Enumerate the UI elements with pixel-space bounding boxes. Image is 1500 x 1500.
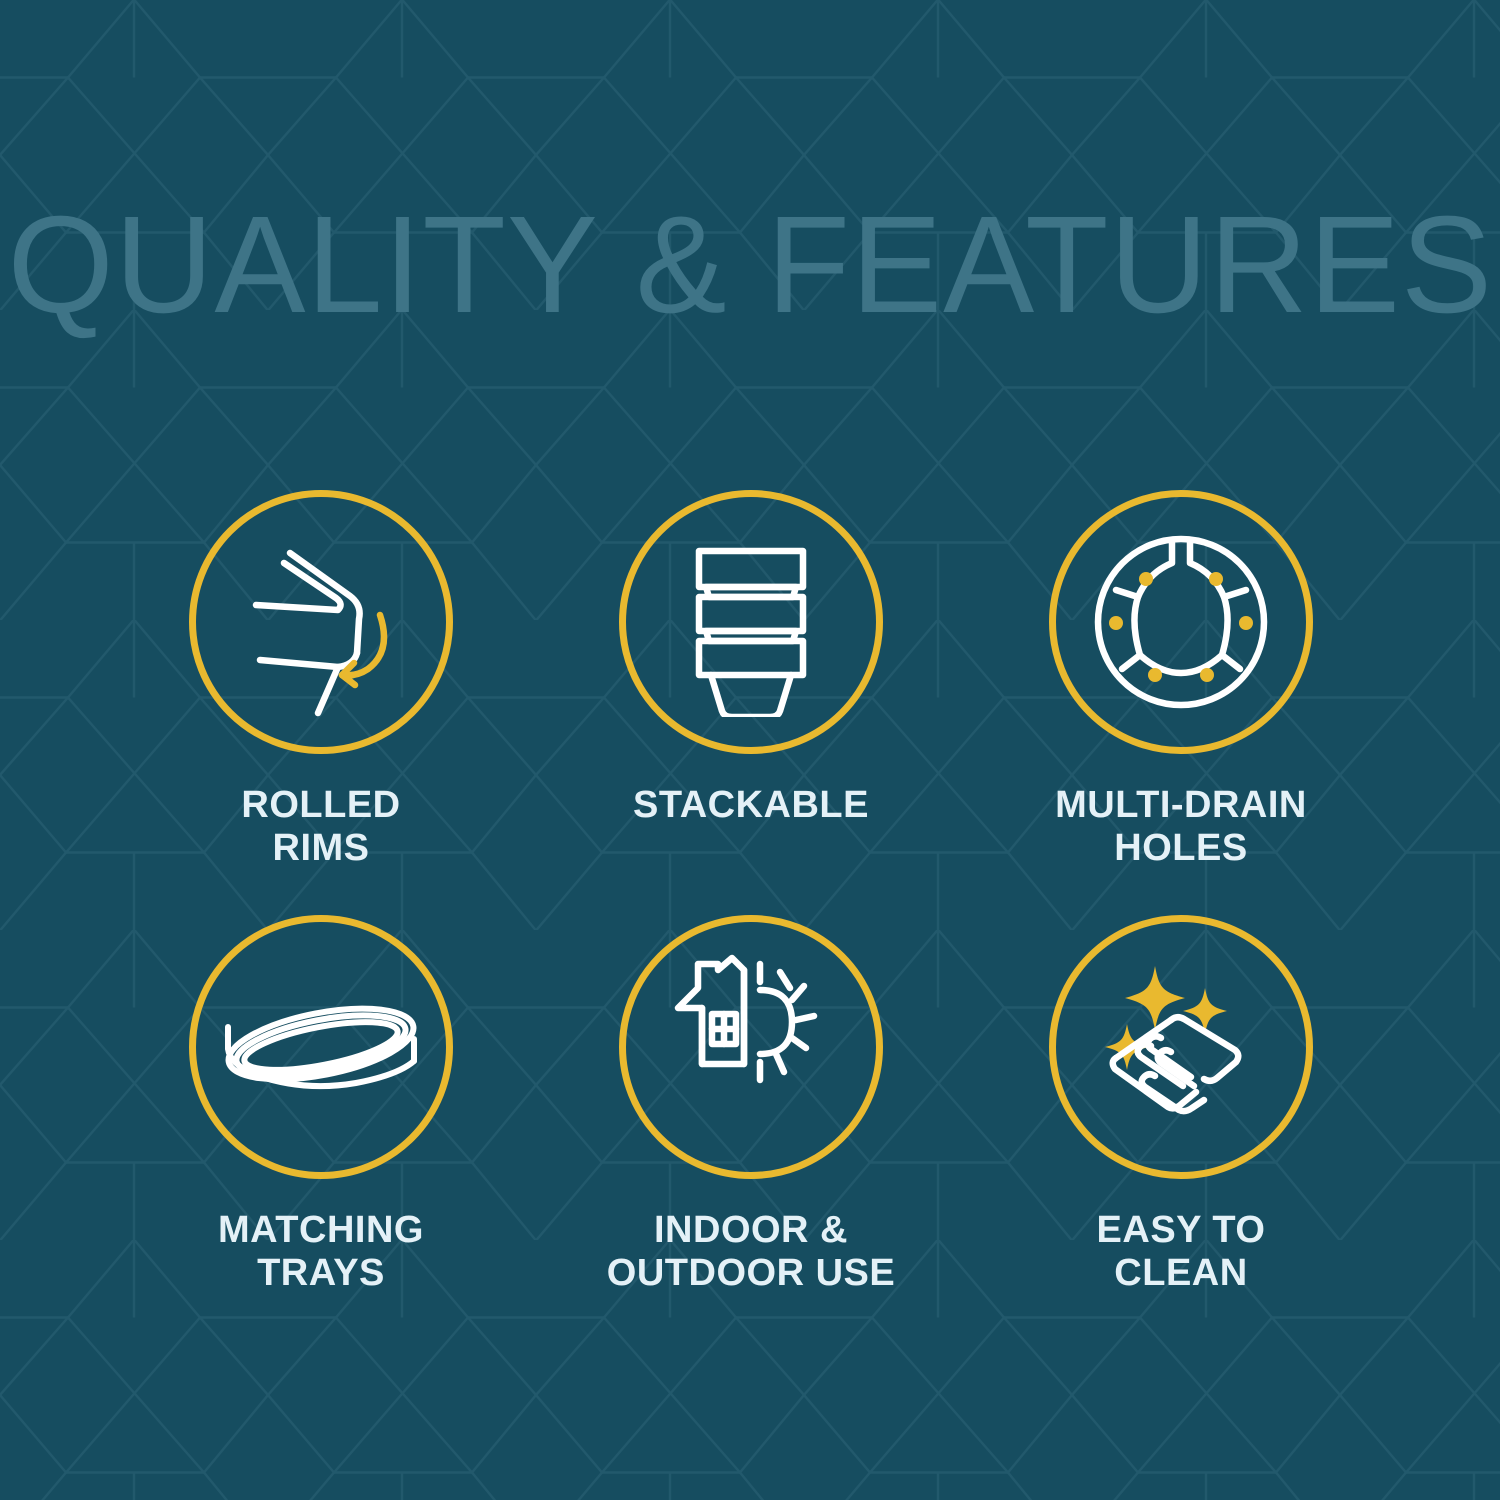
feature-easy-to-clean[interactable]: EASY TO CLEAN — [966, 915, 1396, 1340]
feature-rolled-rims[interactable]: ROLLED RIMS — [106, 490, 536, 915]
badge-ring-stackable — [619, 490, 883, 754]
feature-label-easy-to-clean: EASY TO CLEAN — [1097, 1209, 1266, 1294]
badge-ring-rolled-rims — [189, 490, 453, 754]
feature-multi-drain-holes[interactable]: MULTI-DRAIN HOLES — [966, 490, 1396, 915]
stacked-pots-icon — [656, 527, 846, 717]
feature-grid: ROLLED RIMS — [106, 490, 1396, 1340]
badge-ring-indoor-outdoor-use — [619, 915, 883, 1179]
feature-indoor-outdoor-use[interactable]: INDOOR & OUTDOOR USE — [536, 915, 966, 1340]
feature-label-matching-trays: MATCHING TRAYS — [218, 1209, 424, 1294]
feature-infographic: QUALITY & FEATURES — [0, 0, 1500, 1500]
feature-label-multi-drain-holes: MULTI-DRAIN HOLES — [1055, 784, 1307, 869]
page-title-container: QUALITY & FEATURES — [0, 196, 1500, 334]
badge-ring-matching-trays — [189, 915, 453, 1179]
badge-ring-multi-drain-holes — [1049, 490, 1313, 754]
page-title: QUALITY & FEATURES — [8, 196, 1494, 334]
feature-label-rolled-rims: ROLLED RIMS — [241, 784, 400, 869]
feature-label-stackable: STACKABLE — [633, 784, 869, 827]
drain-holes-icon — [1086, 527, 1276, 717]
feature-matching-trays[interactable]: MATCHING TRAYS — [106, 915, 536, 1340]
feature-stackable[interactable]: STACKABLE — [536, 490, 966, 915]
wiping-hand-sparkle-icon — [1083, 952, 1279, 1142]
rolled-rim-icon — [226, 527, 416, 717]
badge-ring-easy-to-clean — [1049, 915, 1313, 1179]
house-sun-icon — [656, 952, 846, 1142]
tray-icon — [216, 952, 426, 1142]
feature-label-indoor-outdoor-use: INDOOR & OUTDOOR USE — [607, 1209, 895, 1294]
